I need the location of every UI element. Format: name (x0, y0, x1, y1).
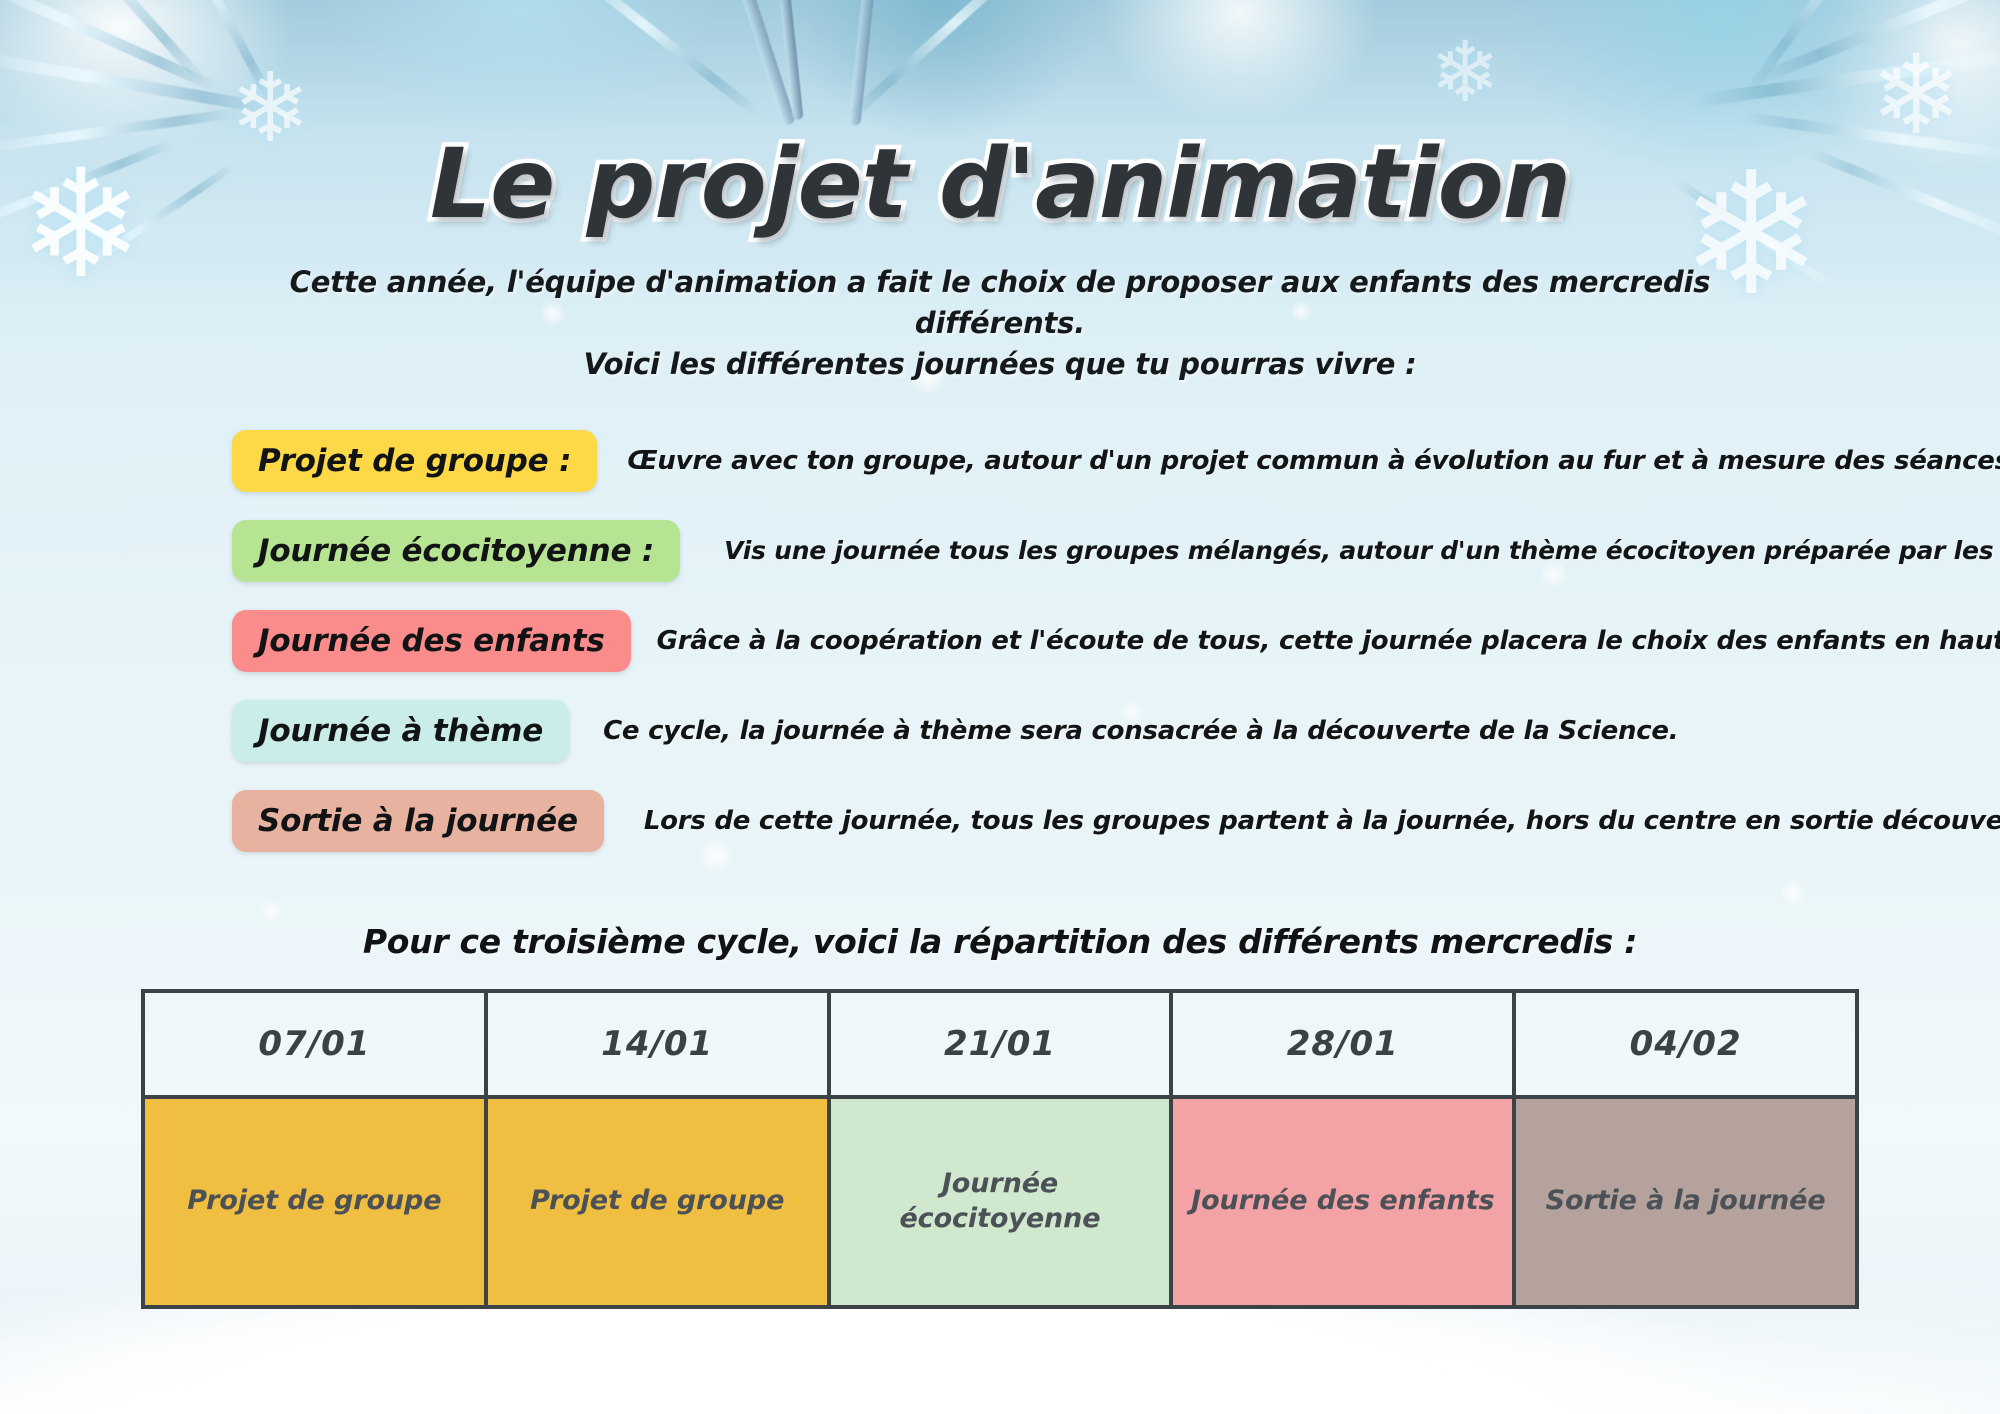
activity-list: Projet de groupe : Œuvre avec ton groupe… (0, 416, 2000, 866)
badge-sortie-a-la-journee: Sortie à la journée (232, 790, 604, 852)
badge-journee-ecocitoyenne: Journée écocitoyenne : (232, 520, 680, 582)
activity-row: Projet de groupe : Œuvre avec ton groupe… (0, 416, 2000, 506)
activity-description: Œuvre avec ton groupe, autour d'un proje… (627, 446, 2000, 476)
schedule-activity-cell: Sortie à la journée (1514, 1097, 1857, 1307)
schedule-activity-cell: Projet de groupe (486, 1097, 829, 1307)
schedule-activity-label-2: écocitoyenne (899, 1202, 1100, 1237)
activity-description: Lors de cette journée, tous les groupes … (644, 806, 2000, 836)
badge-journee-a-theme: Journée à thème (232, 700, 569, 762)
schedule-activity-cell: Journée des enfants (1171, 1097, 1514, 1307)
poster-canvas: ❄ ❄ ❄ ❄ ❄ Le projet d'animation Cette an… (0, 0, 2000, 1414)
activity-description: Grâce à la coopération et l'écoute de to… (657, 626, 2000, 656)
schedule-activity-row: Projet de groupe Projet de groupe Journé… (143, 1097, 1857, 1307)
activity-description: Vis une journée tous les groupes mélangé… (724, 536, 2000, 565)
schedule-date-cell: 14/01 (486, 991, 829, 1097)
schedule-activity-cell: Journée écocitoyenne (829, 1097, 1172, 1307)
activity-row: Journée des enfants Grâce à la coopérati… (0, 596, 2000, 686)
schedule-date-cell: 21/01 (829, 991, 1172, 1097)
badge-projet-de-groupe: Projet de groupe : (232, 430, 597, 492)
activity-row: Sortie à la journée Lors de cette journé… (0, 776, 2000, 866)
schedule-date-cell: 04/02 (1514, 991, 1857, 1097)
schedule-activity-label: Journée (942, 1167, 1058, 1202)
schedule-activity-cell: Projet de groupe (143, 1097, 486, 1307)
schedule-activity-label: Sortie à la journée (1546, 1184, 1826, 1219)
schedule-activity-label: Projet de groupe (187, 1184, 441, 1219)
schedule-date-cell: 07/01 (143, 991, 486, 1097)
intro-paragraph: Cette année, l'équipe d'animation a fait… (210, 262, 1790, 386)
schedule-heading: Pour ce troisième cycle, voici la répart… (0, 922, 2000, 961)
badge-journee-des-enfants: Journée des enfants (232, 610, 631, 672)
schedule-date-cell: 28/01 (1171, 991, 1514, 1097)
schedule-activity-label: Journée des enfants (1191, 1184, 1494, 1219)
page-title: Le projet d'animation (0, 0, 2000, 240)
activity-description: Ce cycle, la journée à thème sera consac… (603, 716, 1678, 746)
schedule-date-row: 07/01 14/01 21/01 28/01 04/02 (143, 991, 1857, 1097)
activity-row: Journée à thème Ce cycle, la journée à t… (0, 686, 2000, 776)
activity-row: Journée écocitoyenne : Vis une journée t… (0, 506, 2000, 596)
schedule-table: 07/01 14/01 21/01 28/01 04/02 Projet de … (141, 989, 1859, 1309)
intro-line-2: Voici les différentes journées que tu po… (210, 344, 1790, 385)
schedule-activity-label: Projet de groupe (530, 1184, 784, 1219)
intro-line-1: Cette année, l'équipe d'animation a fait… (210, 262, 1790, 344)
schedule-table-wrapper: 07/01 14/01 21/01 28/01 04/02 Projet de … (141, 989, 1859, 1309)
